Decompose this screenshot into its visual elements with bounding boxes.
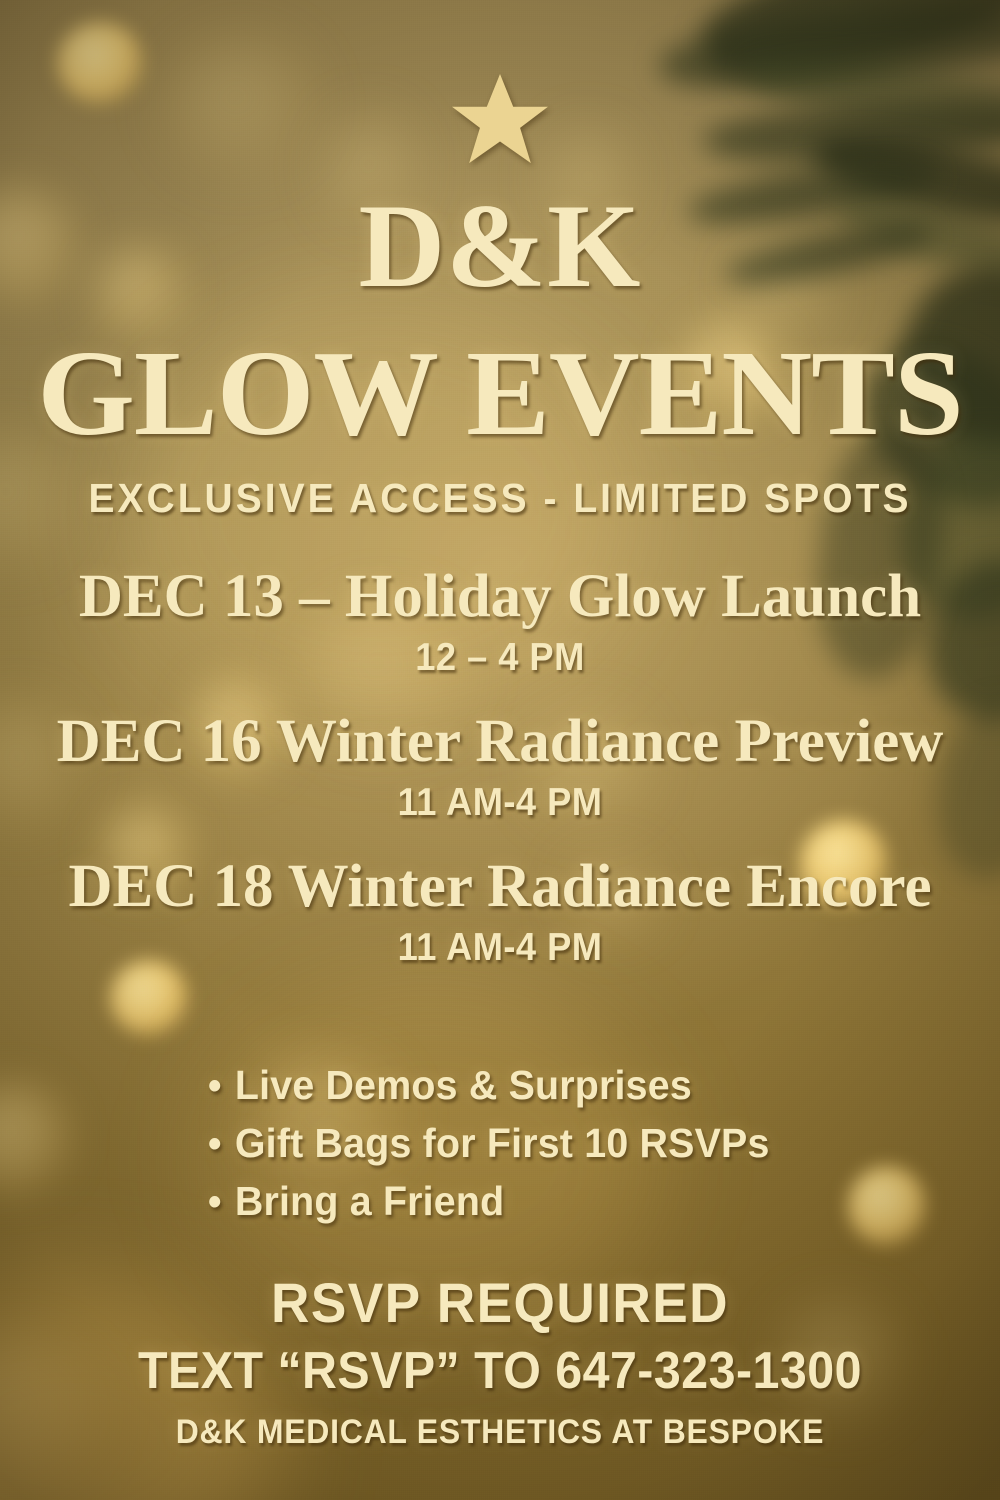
rsvp-instruction-phone: TEXT “RSVP” TO 647-323-1300 <box>35 1345 965 1397</box>
event-title: DEC 18 Winter Radiance Encore <box>0 856 1000 917</box>
poster-content: D&K GLOW EVENTS EXCLUSIVE ACCESS - LIMIT… <box>0 0 1000 1500</box>
poster-footer: RSVP REQUIRED TEXT “RSVP” TO 647-323-130… <box>0 1275 1000 1449</box>
list-item: • Gift Bags for First 10 RSVPs <box>208 1123 770 1164</box>
event-time: 11 AM-4 PM <box>35 928 965 967</box>
event-title: DEC 16 Winter Radiance Preview <box>0 711 1000 772</box>
event-item: DEC 13 – Holiday Glow Launch 12 – 4 PM <box>0 566 1000 677</box>
event-item: DEC 16 Winter Radiance Preview 11 AM-4 P… <box>0 711 1000 822</box>
event-time: 12 – 4 PM <box>35 638 965 677</box>
list-item-label: Gift Bags for First 10 RSVPs <box>234 1123 769 1164</box>
venue-name: D&K MEDICAL ESTHETICS AT BESPOKE <box>30 1415 970 1449</box>
event-title: DEC 13 – Holiday Glow Launch <box>0 566 1000 627</box>
bullet-icon: • <box>208 1182 235 1222</box>
poster-canvas: D&K GLOW EVENTS EXCLUSIVE ACCESS - LIMIT… <box>0 0 1000 1500</box>
perks-list: • Live Demos & Surprises • Gift Bags for… <box>0 1065 1000 1239</box>
list-item: • Live Demos & Surprises <box>208 1065 770 1106</box>
star-decoration <box>0 72 1000 172</box>
brand-name: D&K <box>0 186 1000 306</box>
event-list: DEC 13 – Holiday Glow Launch 12 – 4 PM D… <box>0 566 1000 1001</box>
list-item-label: Live Demos & Surprises <box>234 1065 691 1106</box>
rsvp-required-heading: RSVP REQUIRED <box>25 1275 975 1331</box>
star-icon <box>451 72 549 166</box>
page-title: GLOW EVENTS <box>0 333 1000 455</box>
list-item-label: Bring a Friend <box>234 1181 503 1222</box>
event-time: 11 AM-4 PM <box>35 783 965 822</box>
subtitle-tagline: EXCLUSIVE ACCESS - LIMITED SPOTS <box>25 478 975 519</box>
list-item: • Bring a Friend <box>208 1181 770 1222</box>
bullet-icon: • <box>208 1066 235 1106</box>
event-item: DEC 18 Winter Radiance Encore 11 AM-4 PM <box>0 856 1000 967</box>
bullet-icon: • <box>208 1124 235 1164</box>
